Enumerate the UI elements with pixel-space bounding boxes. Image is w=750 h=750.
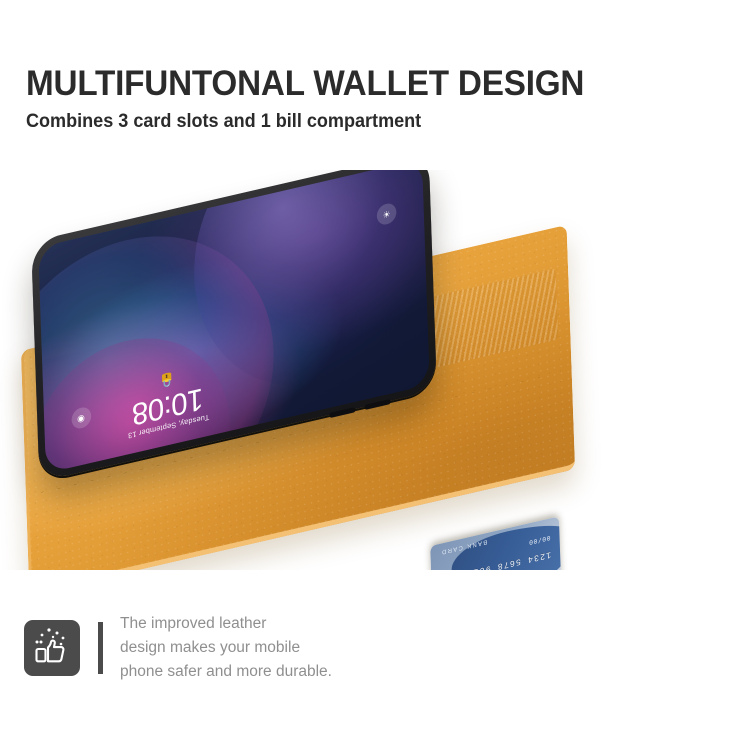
feature-line-3: phone safer and more durable. <box>120 660 332 684</box>
thumbs-up-sparkle-icon <box>24 620 80 676</box>
product-photo: 1234 5678 9012 3456 00/00 BANK CARD 9012… <box>0 170 750 570</box>
page-subtitle: Combines 3 card slots and 1 bill compart… <box>26 111 691 133</box>
credit-card: 1234 5678 9012 3456 00/00 BANK CARD <box>430 516 562 570</box>
feature-divider <box>98 622 103 674</box>
lock-screen-content: Tuesday, September 13 10:08 🔒 <box>64 291 268 455</box>
page-title: MULTIFUNTONAL WALLET DESIGN <box>26 66 691 103</box>
header-block: MULTIFUNTONAL WALLET DESIGN Combines 3 c… <box>26 66 726 133</box>
feature-description: The improved leather design makes your m… <box>120 612 332 684</box>
flashlight-icon: ☀ <box>377 201 397 226</box>
feature-line-1: The improved leather <box>120 612 332 636</box>
feature-line-2: design makes your mobile <box>120 636 332 660</box>
feature-highlight: The improved leather design makes your m… <box>24 612 332 684</box>
